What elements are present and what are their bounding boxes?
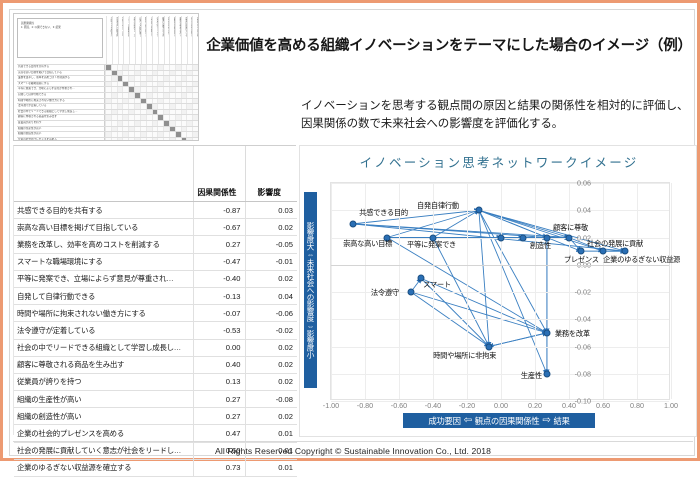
table-row: 顧客に尊敬される商品を生み出す0.400.02 bbox=[14, 356, 297, 373]
data-point-label: プレゼンス bbox=[564, 255, 599, 265]
data-point[interactable] bbox=[407, 289, 414, 296]
row-causal-value: 0.27 bbox=[193, 408, 245, 425]
row-impact-value: -0.06 bbox=[245, 305, 297, 322]
table-header-row: 因果関係性 影響度 bbox=[14, 146, 297, 202]
row-causal-value: -0.67 bbox=[193, 219, 245, 236]
data-point-label: 法令遵守 bbox=[371, 288, 399, 298]
grid-line-vertical bbox=[671, 183, 672, 399]
row-causal-value: -0.87 bbox=[193, 202, 245, 219]
data-point[interactable] bbox=[520, 234, 527, 241]
row-impact-value: 0.01 bbox=[245, 425, 297, 442]
row-causal-value: -0.13 bbox=[193, 287, 245, 304]
evaluation-table: 因果関係性 影響度 共感できる目的を共有する-0.870.03崇高な高い目標を掲… bbox=[14, 146, 297, 477]
y-axis-tick-label: -0.06 bbox=[545, 342, 591, 351]
grid-line-horizontal bbox=[331, 374, 669, 375]
row-label: 時間や場所に拘束されない働き方にする bbox=[14, 305, 193, 322]
legend-center-text: 観点の因果関係性 bbox=[475, 415, 540, 427]
x-axis-tick-label: -0.60 bbox=[382, 401, 416, 410]
chart-legend-bar: 成功要因 ⇦ 観点の因果関係性 ⇨ 結果 bbox=[403, 413, 595, 428]
row-label: 共感できる目的を共有する bbox=[14, 202, 193, 219]
right-arrow-icon: ⇨ bbox=[542, 416, 550, 426]
table-header-impact: 影響度 bbox=[245, 146, 297, 202]
matrix-column-headers: 共感できる目的を共崇高な高い目標を掲業務を改革し、効率スマートな職場環境平等に発… bbox=[106, 16, 198, 64]
x-axis-tick-label: 0.60 bbox=[586, 401, 620, 410]
data-point[interactable] bbox=[577, 248, 584, 255]
causal-matrix-thumbnail: 因果関係性 1: 原因、2: 以関できない、3: 結果 共感できる目的を共崇高な… bbox=[13, 13, 199, 141]
matrix-legend-line2: 1: 原因、2: 以関できない、3: 結果 bbox=[21, 26, 100, 30]
x-axis-tick-label: 0.00 bbox=[484, 401, 518, 410]
table-row: 組織の生産性が高い0.27-0.08 bbox=[14, 391, 297, 408]
footer-copyright: All Rights Reserved Copyright © Sustaina… bbox=[10, 446, 696, 456]
table-row: 社会の中でリードできる組織として学習し成長し…0.000.02 bbox=[14, 339, 297, 356]
matrix-legend-box: 因果関係性 1: 原因、2: 以関できない、3: 結果 bbox=[17, 18, 103, 58]
table-row: 企業のゆるぎない収益源を確立する0.730.01 bbox=[14, 459, 297, 476]
data-point-label: 顧客に尊敬 bbox=[553, 223, 588, 233]
slide-page: 因果関係性 1: 原因、2: 以関できない、3: 結果 共感できる目的を共崇高な… bbox=[0, 0, 700, 461]
data-point-label: 崇高な高い目標 bbox=[343, 239, 392, 249]
grid-line-vertical bbox=[331, 183, 332, 399]
grid-line-horizontal bbox=[331, 183, 669, 184]
matrix-row-label: 企業の社会的プレゼンスを高める bbox=[17, 138, 105, 141]
data-point[interactable] bbox=[350, 220, 357, 227]
slide-inner-frame: 因果関係性 1: 原因、2: 以関できない、3: 結果 共感できる目的を共崇高な… bbox=[9, 9, 695, 456]
data-point-label: 社会の発展に貢献 bbox=[587, 239, 643, 249]
table-row: 自発して自律行動できる-0.130.04 bbox=[14, 287, 297, 304]
row-impact-value: 0.02 bbox=[245, 219, 297, 236]
network-chart-card: イノベーション思考ネットワークイメージ 影響度大⇔未来社会への影響度⇔影響度小 … bbox=[299, 145, 697, 437]
table-header-label bbox=[14, 146, 193, 202]
table-row: スマートな職場環境にする-0.47-0.01 bbox=[14, 253, 297, 270]
row-label: 企業の社会的プレゼンスを高める bbox=[14, 425, 193, 442]
table-row: 法令遵守が定着している-0.53-0.02 bbox=[14, 322, 297, 339]
row-label: 顧客に尊敬される商品を生み出す bbox=[14, 356, 193, 373]
table-row: 共感できる目的を共有する-0.870.03 bbox=[14, 202, 297, 219]
row-label: 平等に発案でき、立場によらず意見が尊重され… bbox=[14, 270, 193, 287]
data-point-label: 創造性 bbox=[530, 241, 551, 251]
x-axis-tick-label: -0.80 bbox=[348, 401, 382, 410]
row-label: 自発して自律行動できる bbox=[14, 287, 193, 304]
grid-line-vertical bbox=[433, 183, 434, 399]
row-label: 組織の生産性が高い bbox=[14, 391, 193, 408]
data-point[interactable] bbox=[543, 329, 550, 336]
table-row: 崇高な高い目標を掲げて目指している-0.670.02 bbox=[14, 219, 297, 236]
x-axis-tick-label: 0.80 bbox=[620, 401, 654, 410]
row-causal-value: 0.73 bbox=[193, 459, 245, 476]
row-causal-value: -0.47 bbox=[193, 253, 245, 270]
row-label: 企業のゆるぎない収益源を確立する bbox=[14, 459, 193, 476]
chart-title: イノベーション思考ネットワークイメージ bbox=[300, 152, 698, 171]
grid-line-horizontal bbox=[331, 347, 669, 348]
legend-right-text: 結果 bbox=[553, 415, 569, 427]
grid-line-vertical bbox=[535, 183, 536, 399]
row-causal-value: 0.40 bbox=[193, 356, 245, 373]
row-impact-value: -0.01 bbox=[245, 253, 297, 270]
x-axis-tick-label: 1.00 bbox=[654, 401, 688, 410]
matrix-cell bbox=[192, 138, 198, 141]
network-edge bbox=[479, 210, 547, 333]
table-row: 従業員が誇りを持つ0.130.02 bbox=[14, 373, 297, 390]
grid-line-vertical bbox=[501, 183, 502, 399]
grid-line-horizontal bbox=[331, 319, 669, 320]
data-point-label: 平等に発案でき bbox=[407, 240, 456, 250]
y-axis-tick-label: -0.04 bbox=[545, 315, 591, 324]
network-edge bbox=[489, 333, 547, 347]
grid-line-vertical bbox=[467, 183, 468, 399]
table-row: 時間や場所に拘束されない働き方にする-0.07-0.06 bbox=[14, 305, 297, 322]
data-point-label: 自発自律行動 bbox=[417, 201, 459, 211]
y-axis-tick-label: 0.04 bbox=[545, 206, 591, 215]
grid-line-vertical bbox=[637, 183, 638, 399]
data-point-label: 企業のゆるぎない収益源 bbox=[603, 255, 680, 265]
chart-y-axis-label: 影響度大⇔未来社会への影響度⇔影響度小 bbox=[304, 192, 317, 388]
row-impact-value: 0.01 bbox=[245, 459, 297, 476]
row-causal-value: 0.13 bbox=[193, 373, 245, 390]
data-point[interactable] bbox=[498, 234, 505, 241]
row-causal-value: -0.53 bbox=[193, 322, 245, 339]
page-title: 企業価値を高める組織イノベーションをテーマにした場合のイメージ（例） bbox=[206, 34, 692, 55]
data-point-label: 共感できる目的 bbox=[359, 208, 408, 218]
matrix-col-header: 企業のゆるぎない収 bbox=[192, 16, 198, 64]
footer-divider bbox=[13, 441, 693, 442]
chart-plot-area: -1.00-0.80-0.60-0.40-0.200.000.200.400.6… bbox=[330, 182, 670, 400]
data-point-label: 時間や場所に非拘束 bbox=[433, 351, 496, 361]
x-axis-tick-label: -0.20 bbox=[450, 401, 484, 410]
evaluation-table-card: 因果関係性 影響度 共感できる目的を共有する-0.870.03崇高な高い目標を掲… bbox=[13, 145, 296, 435]
matrix-row: 企業の社会的プレゼンスを高める bbox=[17, 137, 198, 141]
data-point-label: 業務を改革 bbox=[555, 329, 590, 339]
row-causal-value: 0.47 bbox=[193, 425, 245, 442]
row-impact-value: 0.02 bbox=[245, 356, 297, 373]
row-impact-value: -0.02 bbox=[245, 322, 297, 339]
row-label: 業務を改革し、効率を高めコストを削減する bbox=[14, 236, 193, 253]
row-impact-value: 0.02 bbox=[245, 270, 297, 287]
data-point-label: 生産性 bbox=[521, 371, 542, 381]
left-arrow-icon: ⇦ bbox=[464, 416, 472, 426]
row-causal-value: 0.00 bbox=[193, 339, 245, 356]
data-point-label: スマート bbox=[423, 280, 451, 290]
row-label: 法令遵守が定着している bbox=[14, 322, 193, 339]
matrix-rows: 共感できる目的を共有する崇高な高い目標を掲げて目指している業務を改革し、効率を高… bbox=[17, 64, 198, 138]
row-impact-value: 0.02 bbox=[245, 373, 297, 390]
row-causal-value: 0.27 bbox=[193, 236, 245, 253]
table-body: 共感できる目的を共有する-0.870.03崇高な高い目標を掲げて目指している-0… bbox=[14, 202, 297, 477]
row-label: スマートな職場環境にする bbox=[14, 253, 193, 270]
table-header-causal: 因果関係性 bbox=[193, 146, 245, 202]
row-label: 社会の中でリードできる組織として学習し成長し… bbox=[14, 339, 193, 356]
legend-left-text: 成功要因 bbox=[428, 415, 460, 427]
table-row: 企業の社会的プレゼンスを高める0.470.01 bbox=[14, 425, 297, 442]
row-impact-value: -0.08 bbox=[245, 391, 297, 408]
grid-line-vertical bbox=[603, 183, 604, 399]
row-label: 組織の創造性が高い bbox=[14, 408, 193, 425]
y-axis-tick-label: 0.06 bbox=[545, 179, 591, 188]
row-impact-value: 0.04 bbox=[245, 287, 297, 304]
y-axis-tick-label: -0.10 bbox=[545, 397, 591, 406]
table-row: 業務を改革し、効率を高めコストを削減する0.27-0.05 bbox=[14, 236, 297, 253]
data-point[interactable] bbox=[566, 234, 573, 241]
table-row: 平等に発案でき、立場によらず意見が尊重され…-0.400.02 bbox=[14, 270, 297, 287]
row-impact-value: 0.03 bbox=[245, 202, 297, 219]
y-axis-tick-label: -0.08 bbox=[545, 369, 591, 378]
row-causal-value: -0.40 bbox=[193, 270, 245, 287]
row-impact-value: 0.02 bbox=[245, 408, 297, 425]
row-causal-value: 0.27 bbox=[193, 391, 245, 408]
row-label: 崇高な高い目標を掲げて目指している bbox=[14, 219, 193, 236]
row-causal-value: -0.07 bbox=[193, 305, 245, 322]
row-label: 従業員が誇りを持つ bbox=[14, 373, 193, 390]
page-subtitle: イノベーションを思考する観点間の原因と結果の関係性を相対的に評価し、因果関係の数… bbox=[301, 98, 693, 134]
x-axis-tick-label: -1.00 bbox=[314, 401, 348, 410]
row-impact-value: 0.02 bbox=[245, 339, 297, 356]
grid-line-horizontal bbox=[331, 401, 669, 402]
y-axis-tick-label: -0.02 bbox=[545, 288, 591, 297]
row-impact-value: -0.05 bbox=[245, 236, 297, 253]
data-point[interactable] bbox=[543, 370, 550, 377]
data-point[interactable] bbox=[486, 343, 493, 350]
x-axis-tick-label: -0.40 bbox=[416, 401, 450, 410]
table-row: 組織の創造性が高い0.270.02 bbox=[14, 408, 297, 425]
data-point[interactable] bbox=[622, 248, 629, 255]
data-point[interactable] bbox=[475, 207, 482, 214]
